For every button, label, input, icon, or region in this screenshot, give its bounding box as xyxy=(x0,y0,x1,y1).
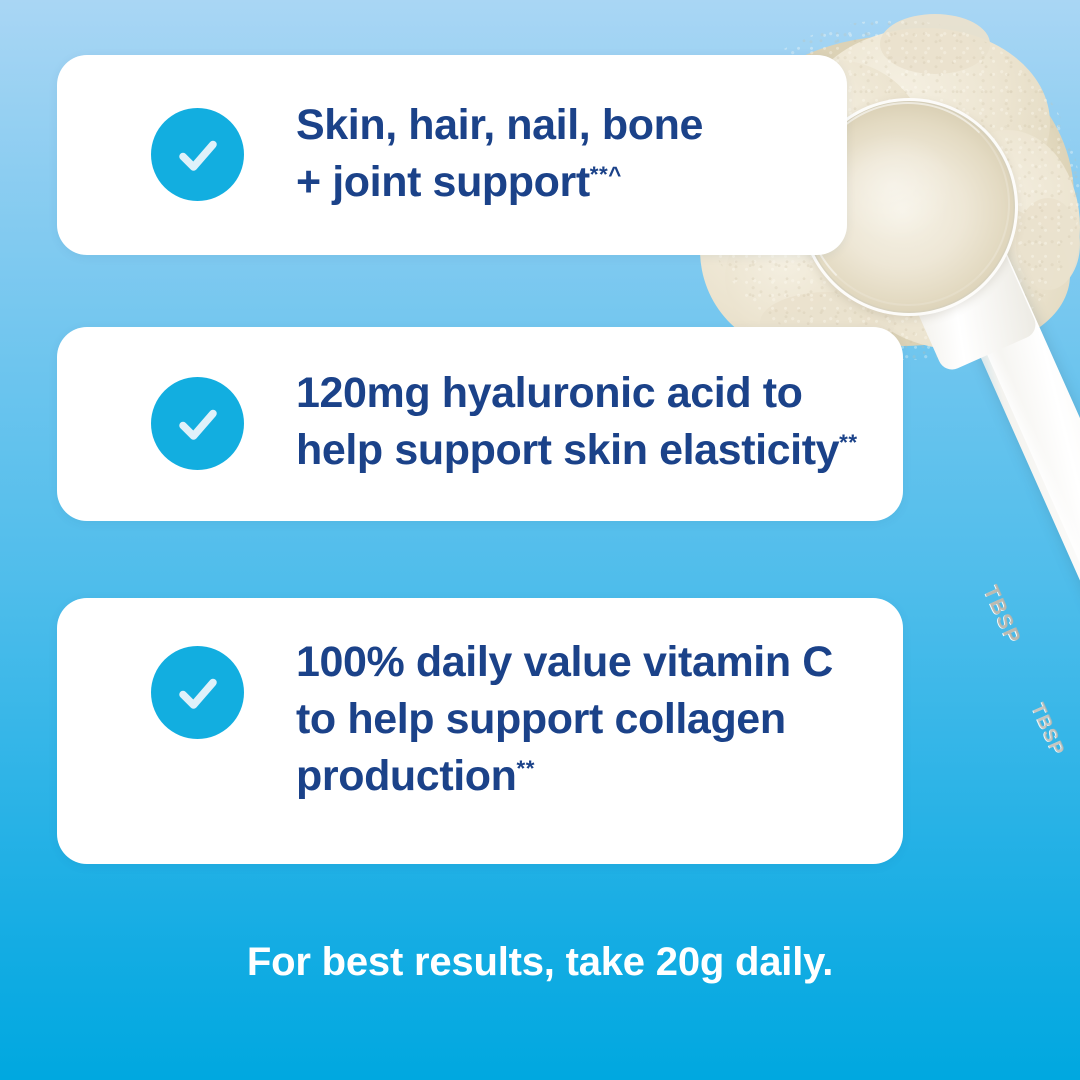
benefit-line-1: 100% daily value vitamin C xyxy=(296,634,877,691)
benefit-footnote: **^ xyxy=(590,162,622,187)
check-icon xyxy=(151,646,244,739)
benefit-card-list: Skin, hair, nail, bone + joint support**… xyxy=(0,0,1080,1080)
benefit-text: 100% daily value vitamin C to help suppo… xyxy=(296,634,877,804)
benefit-line-2: help support skin elasticity** xyxy=(296,422,877,479)
benefit-card: 100% daily value vitamin C to help suppo… xyxy=(57,598,903,864)
benefit-line-2: + joint support**^ xyxy=(296,154,821,211)
benefit-line-1: Skin, hair, nail, bone xyxy=(296,97,821,154)
benefit-line-2: to help support collagen xyxy=(296,691,877,748)
benefit-line-3: production** xyxy=(296,748,877,805)
benefit-line-1: 120mg hyaluronic acid to xyxy=(296,365,877,422)
check-icon xyxy=(151,108,244,201)
benefit-footnote: ** xyxy=(839,430,857,455)
check-icon xyxy=(151,377,244,470)
usage-note: For best results, take 20g daily. xyxy=(0,940,1080,985)
benefit-text: 120mg hyaluronic acid to help support sk… xyxy=(296,365,877,479)
benefit-footnote: ** xyxy=(517,756,535,781)
benefit-card: 120mg hyaluronic acid to help support sk… xyxy=(57,327,903,521)
benefit-text: Skin, hair, nail, bone + joint support**… xyxy=(296,97,821,211)
product-benefits-graphic: TBSP TBSP Skin, hair, nail, bone + joint… xyxy=(0,0,1080,1080)
benefit-card: Skin, hair, nail, bone + joint support**… xyxy=(57,55,847,255)
